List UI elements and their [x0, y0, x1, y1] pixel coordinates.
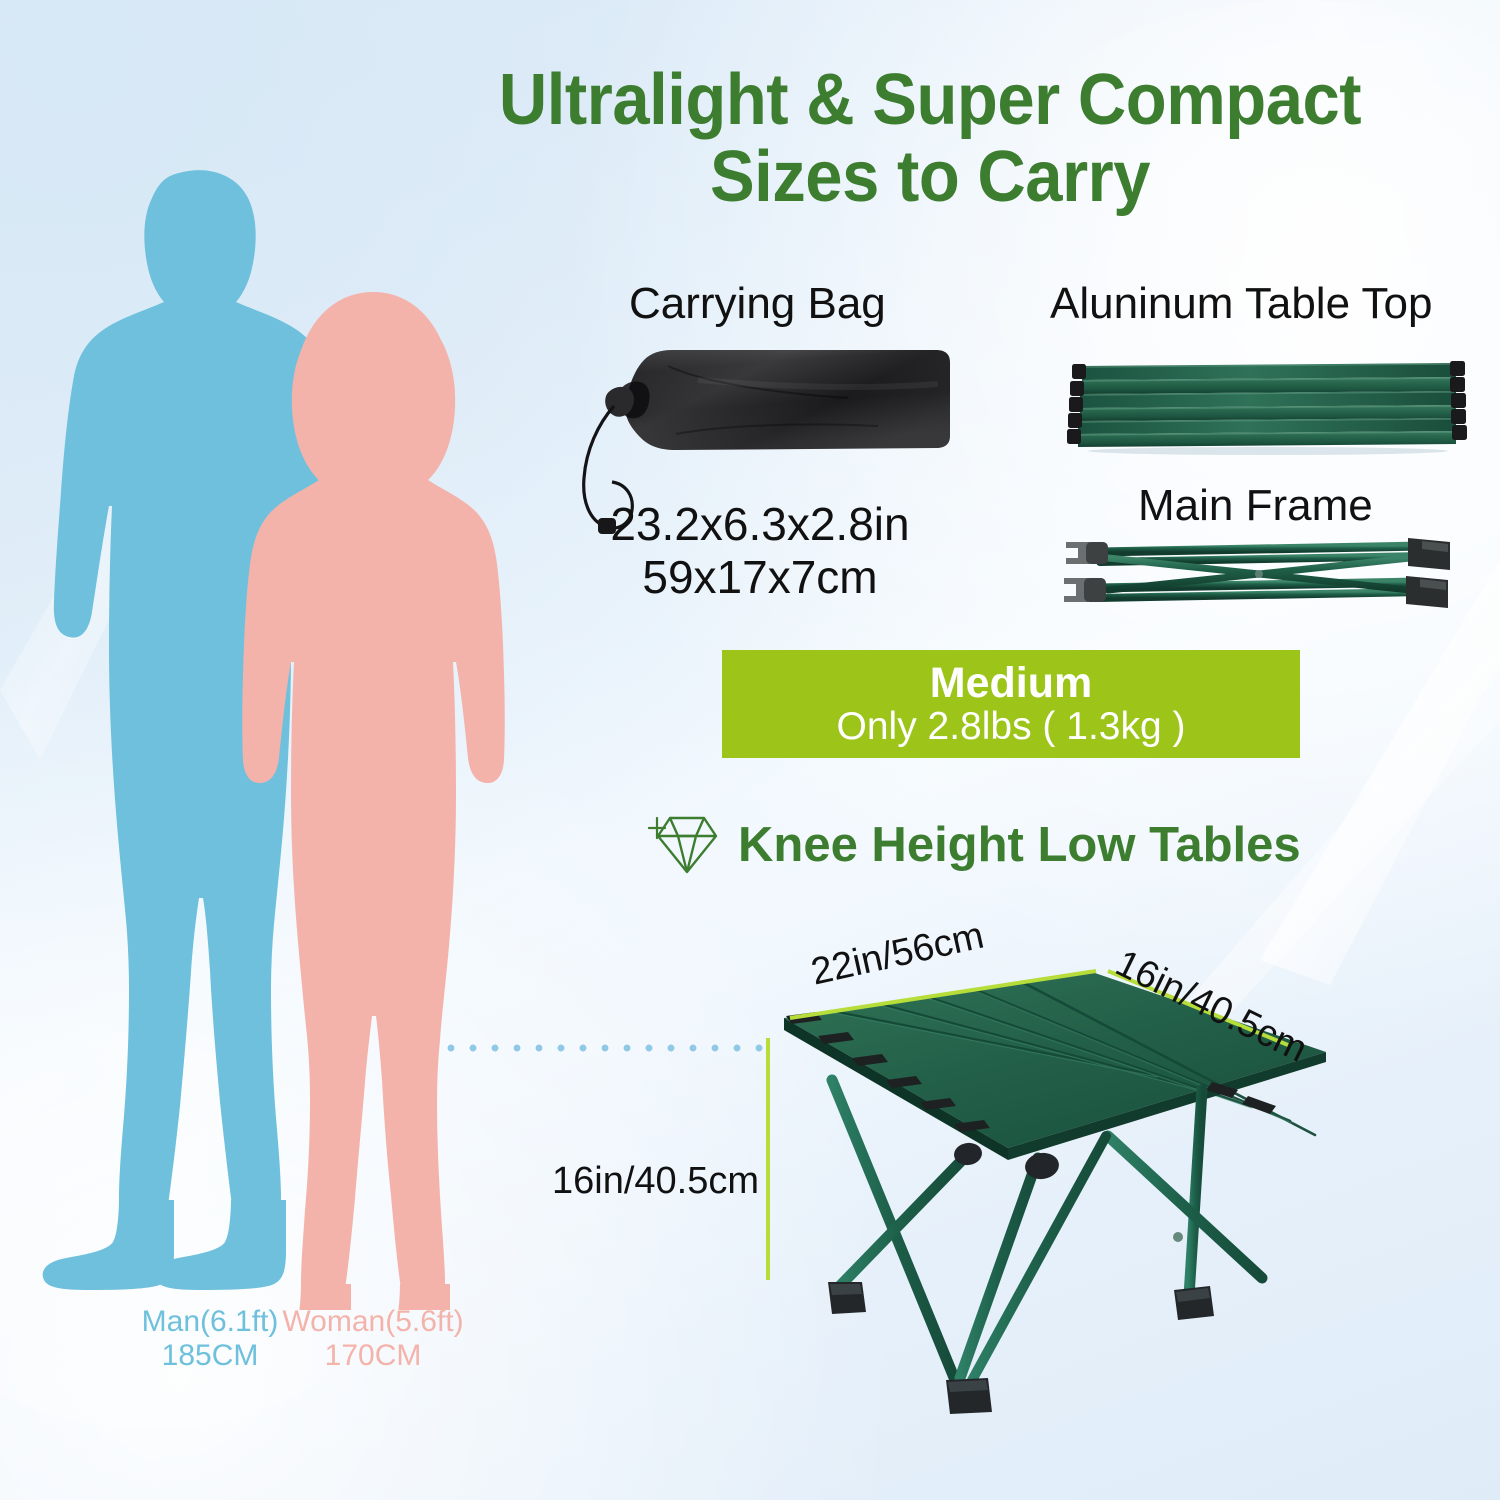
- banner-weight-label: Only 2.8lbs ( 1.3kg ): [837, 706, 1186, 747]
- table-top-label: Aluninum Table Top: [1050, 279, 1432, 329]
- woman-caption: Woman(5.6ft) 170CM: [258, 1305, 488, 1372]
- knee-height-text: Knee Height Low Tables: [738, 817, 1301, 873]
- diamond-icon: [648, 812, 722, 878]
- weight-banner: Medium Only 2.8lbs ( 1.3kg ): [722, 650, 1300, 758]
- knee-height-feature: Knee Height Low Tables: [648, 812, 1301, 878]
- banner-size-label: Medium: [930, 661, 1092, 707]
- height-connector-dotted-line: [440, 1043, 770, 1053]
- carrying-bag-label: Carrying Bag: [629, 279, 886, 329]
- page-title: Ultralight & Super Compact Sizes to Carr…: [409, 62, 1451, 216]
- main-frame-icon: [1050, 528, 1470, 620]
- table-height-label: 16in/40.5cm: [552, 1160, 759, 1203]
- main-frame-label: Main Frame: [1138, 481, 1373, 531]
- human-scale-silhouettes: [0, 150, 520, 1310]
- carrying-bag-dimensions: 23.2x6.3x2.8in 59x17x7cm: [560, 498, 960, 605]
- aluminum-table-top-icon: [1058, 352, 1478, 457]
